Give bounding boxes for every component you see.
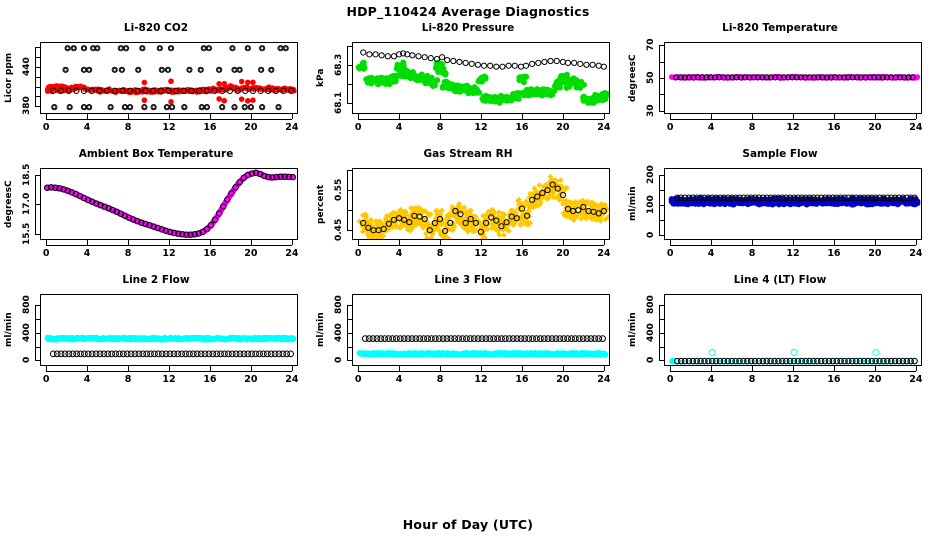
series-layer-li820-temperature — [665, 43, 922, 114]
panel-li820-co2: Li-820 CO2Licor ppm38044004812162024 — [0, 22, 312, 148]
series-layer-sample-flow — [665, 169, 922, 240]
ytick-label-li820-co2-0: 380 — [21, 88, 33, 124]
xtick-label-line-4-lt-flow-1: 4 — [697, 374, 725, 385]
xtick-label-li820-co2-2: 8 — [114, 122, 142, 133]
panel-line-4-lt-flow: Line 4 (LT) Flowml/min040080004812162024 — [624, 274, 936, 400]
xtick-label-gas-stream-rh-4: 16 — [508, 248, 536, 259]
ytick-gas-stream-rh-0 — [347, 230, 352, 231]
panel-title-li820-co2: Li-820 CO2 — [0, 22, 312, 34]
yaxis-spine-ambient-box-temperature — [35, 175, 36, 234]
ytick-label-gas-stream-rh-0: 0.45 — [333, 212, 345, 248]
yaxis-spine-line-4-lt-flow — [659, 305, 660, 360]
ylabel-sample-flow: ml/min — [628, 168, 638, 240]
xaxis-spine-line-4-lt-flow — [670, 371, 916, 372]
xaxis-spine-li820-co2 — [46, 119, 292, 120]
yaxis-spine-li820-temperature — [659, 45, 660, 110]
plot-area-ambient-box-temperature — [40, 168, 298, 240]
xtick-label-li820-pressure-5: 20 — [549, 122, 577, 133]
xtick-label-li820-pressure-0: 0 — [344, 122, 372, 133]
xtick-label-line-4-lt-flow-0: 0 — [656, 374, 684, 385]
xtick-label-ambient-box-temperature-4: 16 — [196, 248, 224, 259]
xaxis-spine-li820-pressure — [358, 119, 604, 120]
plot-area-li820-temperature — [664, 42, 922, 114]
diagnostics-figure: HDP_110424 Average Diagnostics Li-820 CO… — [0, 0, 936, 540]
yaxis-spine-li820-pressure — [347, 46, 348, 103]
series-layer-line-4-lt-flow — [665, 295, 922, 366]
plot-area-gas-stream-rh — [352, 168, 610, 240]
xtick-label-line-4-lt-flow-3: 12 — [779, 374, 807, 385]
ytick-label-li820-co2-4: 440 — [21, 49, 33, 85]
xtick-label-li820-pressure-3: 12 — [467, 122, 495, 133]
plot-area-sample-flow — [664, 168, 922, 240]
xtick-li820-pressure-6 — [604, 114, 605, 119]
series-layer-gas-stream-rh — [353, 169, 610, 240]
xtick-label-gas-stream-rh-1: 4 — [385, 248, 413, 259]
xtick-label-line-3-flow-5: 20 — [549, 374, 577, 385]
xtick-label-ambient-box-temperature-2: 8 — [114, 248, 142, 259]
plot-area-li820-pressure — [352, 42, 610, 114]
xtick-label-sample-flow-1: 4 — [697, 248, 725, 259]
ytick-label-li820-pressure-2: 68.3 — [333, 47, 345, 83]
xtick-line-2-flow-6 — [292, 366, 293, 371]
panel-line-3-flow: Line 3 Flowml/min040080004812162024 — [312, 274, 624, 400]
panel-li820-pressure: Li-820 PressurekPa68.168.304812162024 — [312, 22, 624, 148]
xtick-label-li820-pressure-2: 8 — [426, 122, 454, 133]
xaxis-spine-li820-temperature — [670, 119, 916, 120]
xtick-label-sample-flow-4: 16 — [820, 248, 848, 259]
xtick-label-gas-stream-rh-6: 24 — [590, 248, 618, 259]
ytick-label-sample-flow-4: 200 — [645, 157, 657, 193]
xtick-label-li820-co2-6: 24 — [278, 122, 306, 133]
panel-title-sample-flow: Sample Flow — [624, 148, 936, 160]
plot-area-line-2-flow — [40, 294, 298, 366]
xtick-label-li820-temperature-1: 4 — [697, 122, 725, 133]
panel-sample-flow: Sample Flowml/min010020004812162024 — [624, 148, 936, 274]
xtick-label-line-4-lt-flow-5: 20 — [861, 374, 889, 385]
xtick-label-line-3-flow-0: 0 — [344, 374, 372, 385]
xaxis-spine-line-3-flow — [358, 371, 604, 372]
xtick-line-4-lt-flow-6 — [916, 366, 917, 371]
panel-title-line-2-flow: Line 2 Flow — [0, 274, 312, 286]
xtick-label-li820-pressure-1: 4 — [385, 122, 413, 133]
xtick-label-gas-stream-rh-5: 20 — [549, 248, 577, 259]
xtick-ambient-box-temperature-6 — [292, 240, 293, 245]
xtick-label-li820-pressure-4: 16 — [508, 122, 536, 133]
panel-title-line-4-lt-flow: Line 4 (LT) Flow — [624, 274, 936, 286]
ytick-label-ambient-box-temperature-2: 18.5 — [21, 157, 33, 193]
panel-li820-temperature: Li-820 TemperaturedegreesC30507004812162… — [624, 22, 936, 148]
panel-line-2-flow: Line 2 Flowml/min040080004812162024 — [0, 274, 312, 400]
xtick-label-line-3-flow-3: 12 — [467, 374, 495, 385]
xtick-label-line-4-lt-flow-6: 24 — [902, 374, 930, 385]
ytick-ambient-box-temperature-0 — [35, 234, 40, 235]
xtick-label-line-2-flow-5: 20 — [237, 374, 265, 385]
xtick-label-gas-stream-rh-2: 8 — [426, 248, 454, 259]
yaxis-spine-line-2-flow — [35, 305, 36, 360]
xtick-label-li820-temperature-5: 20 — [861, 122, 889, 133]
xtick-label-sample-flow-0: 0 — [656, 248, 684, 259]
xtick-label-li820-co2-5: 20 — [237, 122, 265, 133]
xtick-label-ambient-box-temperature-1: 4 — [73, 248, 101, 259]
panel-title-gas-stream-rh: Gas Stream RH — [312, 148, 624, 160]
ylabel-li820-co2: Licor ppm — [4, 42, 14, 114]
series-layer-ambient-box-temperature — [41, 169, 298, 240]
xaxis-spine-ambient-box-temperature — [46, 245, 292, 246]
xtick-line-3-flow-6 — [604, 366, 605, 371]
xtick-label-li820-temperature-6: 24 — [902, 122, 930, 133]
xtick-label-sample-flow-6: 24 — [902, 248, 930, 259]
xtick-label-line-2-flow-1: 4 — [73, 374, 101, 385]
ylabel-li820-temperature: degreesC — [628, 42, 638, 114]
ytick-label-line-2-flow-4: 800 — [21, 287, 33, 323]
plot-area-li820-co2 — [40, 42, 298, 114]
panel-ambient-box-temperature: Ambient Box TemperaturedegreesC15.517.01… — [0, 148, 312, 274]
yaxis-spine-line-3-flow — [347, 305, 348, 360]
xtick-label-li820-temperature-0: 0 — [656, 122, 684, 133]
xtick-label-ambient-box-temperature-5: 20 — [237, 248, 265, 259]
xaxis-spine-line-2-flow — [46, 371, 292, 372]
ytick-label-line-4-lt-flow-4: 800 — [645, 287, 657, 323]
ytick-label-li820-pressure-0: 68.1 — [333, 85, 345, 121]
xtick-label-line-3-flow-6: 24 — [590, 374, 618, 385]
xtick-label-li820-co2-4: 16 — [196, 122, 224, 133]
xtick-label-line-3-flow-2: 8 — [426, 374, 454, 385]
series-layer-line-2-flow — [41, 295, 298, 366]
yaxis-spine-gas-stream-rh — [347, 170, 348, 230]
xtick-label-line-3-flow-1: 4 — [385, 374, 413, 385]
series-layer-li820-pressure — [353, 43, 610, 114]
ylabel-line-2-flow: ml/min — [4, 294, 14, 366]
plot-area-line-3-flow — [352, 294, 610, 366]
xtick-label-ambient-box-temperature-0: 0 — [32, 248, 60, 259]
ytick-label-li820-temperature-4: 70 — [645, 27, 657, 63]
xtick-label-sample-flow-2: 8 — [738, 248, 766, 259]
panel-title-ambient-box-temperature: Ambient Box Temperature — [0, 148, 312, 160]
xtick-li820-temperature-6 — [916, 114, 917, 119]
ylabel-ambient-box-temperature: degreesC — [4, 168, 14, 240]
panel-title-li820-pressure: Li-820 Pressure — [312, 22, 624, 34]
ytick-sample-flow-0 — [659, 235, 664, 236]
xtick-label-li820-pressure-6: 24 — [590, 122, 618, 133]
series-layer-li820-co2 — [41, 43, 298, 114]
panel-title-line-3-flow: Line 3 Flow — [312, 274, 624, 286]
xtick-label-sample-flow-5: 20 — [861, 248, 889, 259]
figure-title: HDP_110424 Average Diagnostics — [0, 4, 936, 19]
ylabel-line-4-lt-flow: ml/min — [628, 294, 638, 366]
xtick-label-li820-co2-1: 4 — [73, 122, 101, 133]
series-layer-line-3-flow — [353, 295, 610, 366]
xtick-li820-co2-6 — [292, 114, 293, 119]
xtick-label-sample-flow-3: 12 — [779, 248, 807, 259]
ytick-li820-co2-0 — [35, 106, 40, 107]
xtick-label-gas-stream-rh-0: 0 — [344, 248, 372, 259]
panel-title-li820-temperature: Li-820 Temperature — [624, 22, 936, 34]
xtick-label-line-2-flow-2: 8 — [114, 374, 142, 385]
yaxis-spine-sample-flow — [659, 175, 660, 234]
xaxis-spine-gas-stream-rh — [358, 245, 604, 246]
xtick-label-ambient-box-temperature-3: 12 — [155, 248, 183, 259]
xtick-label-line-2-flow-0: 0 — [32, 374, 60, 385]
ylabel-line-3-flow: ml/min — [316, 294, 326, 366]
xtick-label-li820-co2-0: 0 — [32, 122, 60, 133]
xtick-label-line-2-flow-4: 16 — [196, 374, 224, 385]
xtick-label-li820-co2-3: 12 — [155, 122, 183, 133]
ytick-line-3-flow-0 — [347, 360, 352, 361]
xtick-label-gas-stream-rh-3: 12 — [467, 248, 495, 259]
xtick-label-ambient-box-temperature-6: 24 — [278, 248, 306, 259]
xtick-sample-flow-6 — [916, 240, 917, 245]
panel-gas-stream-rh: Gas Stream RHpercent0.450.5504812162024 — [312, 148, 624, 274]
ytick-li820-temperature-0 — [659, 111, 664, 112]
xtick-label-li820-temperature-2: 8 — [738, 122, 766, 133]
xtick-label-line-2-flow-3: 12 — [155, 374, 183, 385]
xtick-label-li820-temperature-3: 12 — [779, 122, 807, 133]
xtick-label-line-4-lt-flow-4: 16 — [820, 374, 848, 385]
ytick-li820-pressure-0 — [347, 103, 352, 104]
ytick-line-2-flow-0 — [35, 360, 40, 361]
xtick-gas-stream-rh-6 — [604, 240, 605, 245]
ytick-label-li820-temperature-2: 50 — [645, 60, 657, 96]
xtick-label-line-4-lt-flow-2: 8 — [738, 374, 766, 385]
xtick-label-line-2-flow-6: 24 — [278, 374, 306, 385]
yaxis-spine-li820-co2 — [35, 47, 36, 106]
xtick-label-line-3-flow-4: 16 — [508, 374, 536, 385]
ytick-line-4-lt-flow-0 — [659, 360, 664, 361]
ytick-label-line-3-flow-4: 800 — [333, 287, 345, 323]
ylabel-gas-stream-rh: percent — [316, 168, 326, 240]
ylabel-li820-pressure: kPa — [316, 42, 326, 114]
ytick-label-gas-stream-rh-2: 0.55 — [333, 172, 345, 208]
xaxis-spine-sample-flow — [670, 245, 916, 246]
xtick-label-li820-temperature-4: 16 — [820, 122, 848, 133]
figure-xlabel: Hour of Day (UTC) — [0, 517, 936, 532]
plot-area-line-4-lt-flow — [664, 294, 922, 366]
